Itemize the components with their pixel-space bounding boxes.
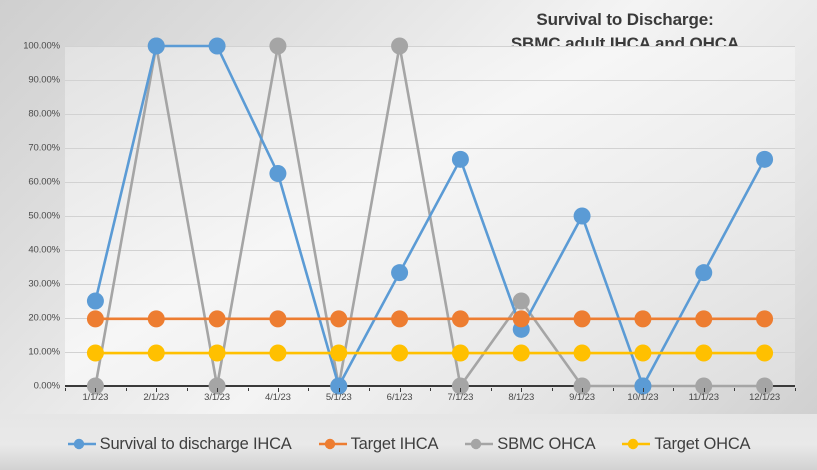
x-axis-tick-label: 9/1/23 <box>569 392 595 403</box>
data-point[interactable] <box>391 38 408 55</box>
x-axis-minor-tick <box>65 388 66 391</box>
data-point[interactable] <box>87 293 104 310</box>
x-axis-minor-tick <box>369 388 370 391</box>
legend-label: Survival to discharge IHCA <box>100 435 292 454</box>
x-axis-tick-label: 12/1/23 <box>749 392 780 403</box>
data-point[interactable] <box>574 310 591 327</box>
y-axis-tick-label: 30.00% <box>28 279 60 290</box>
data-point[interactable] <box>756 310 773 327</box>
series-survival-to-discharge-ihca <box>87 38 773 395</box>
x-axis-tick-label: 4/1/23 <box>265 392 291 403</box>
x-axis-minor-tick <box>491 388 492 391</box>
x-axis-tick-label: 8/1/23 <box>508 392 534 403</box>
series-line <box>95 46 764 386</box>
data-point[interactable] <box>695 264 712 281</box>
legend-marker-icon <box>318 435 348 453</box>
data-point[interactable] <box>452 310 469 327</box>
chart-container: Survival to Discharge: SBMC adult IHCA a… <box>0 0 817 470</box>
x-axis-minor-tick <box>126 388 127 391</box>
x-axis-minor-tick <box>795 388 796 391</box>
y-axis-tick-label: 50.00% <box>28 211 60 222</box>
data-point[interactable] <box>87 345 104 362</box>
data-point[interactable] <box>209 38 226 55</box>
legend-item[interactable]: Target IHCA <box>318 435 439 454</box>
x-axis-minor-tick <box>673 388 674 391</box>
x-axis-minor-tick <box>734 388 735 391</box>
x-axis-tick-label: 5/1/23 <box>326 392 352 403</box>
y-axis-tick-label: 90.00% <box>28 75 60 86</box>
x-axis-tick-label: 6/1/23 <box>387 392 413 403</box>
y-axis-tick-label: 80.00% <box>28 109 60 120</box>
y-axis-tick-label: 70.00% <box>28 143 60 154</box>
legend-marker-icon <box>621 435 651 453</box>
y-axis-tick-label: 40.00% <box>28 245 60 256</box>
data-point[interactable] <box>87 310 104 327</box>
legend-item[interactable]: Survival to discharge IHCA <box>67 435 292 454</box>
x-axis: 1/1/232/1/233/1/234/1/235/1/236/1/237/1/… <box>65 388 795 410</box>
series-layer <box>65 46 795 386</box>
data-point[interactable] <box>209 310 226 327</box>
data-point[interactable] <box>148 38 165 55</box>
data-point[interactable] <box>148 345 165 362</box>
data-point[interactable] <box>756 151 773 168</box>
legend-item[interactable]: Target OHCA <box>621 435 750 454</box>
data-point[interactable] <box>513 293 530 310</box>
data-point[interactable] <box>269 165 286 182</box>
x-axis-tick-label: 3/1/23 <box>204 392 230 403</box>
data-point[interactable] <box>269 345 286 362</box>
data-point[interactable] <box>513 345 530 362</box>
x-axis-minor-tick <box>430 388 431 391</box>
data-point[interactable] <box>574 345 591 362</box>
data-point[interactable] <box>695 310 712 327</box>
y-axis-tick-label: 20.00% <box>28 313 60 324</box>
y-axis: 0.00%10.00%20.00%30.00%40.00%50.00%60.00… <box>0 46 60 386</box>
legend-label: SBMC OHCA <box>497 435 595 454</box>
legend-label: Target OHCA <box>654 435 750 454</box>
data-point[interactable] <box>269 310 286 327</box>
y-axis-tick-label: 0.00% <box>34 381 60 392</box>
y-axis-tick-label: 10.00% <box>28 347 60 358</box>
x-axis-minor-tick <box>308 388 309 391</box>
x-axis-minor-tick <box>613 388 614 391</box>
legend-label: Target IHCA <box>351 435 439 454</box>
x-axis-minor-tick <box>187 388 188 391</box>
data-point[interactable] <box>513 310 530 327</box>
y-axis-tick-label: 100.00% <box>23 41 60 52</box>
y-axis-tick-label: 60.00% <box>28 177 60 188</box>
data-point[interactable] <box>452 151 469 168</box>
data-point[interactable] <box>634 345 651 362</box>
x-axis-tick-label: 7/1/23 <box>447 392 473 403</box>
series-target-ohca <box>87 345 773 362</box>
x-axis-tick-label: 10/1/23 <box>627 392 658 403</box>
plot-area <box>65 46 795 386</box>
data-point[interactable] <box>148 310 165 327</box>
data-point[interactable] <box>269 38 286 55</box>
chart-legend: Survival to discharge IHCATarget IHCASBM… <box>0 414 817 470</box>
data-point[interactable] <box>391 345 408 362</box>
x-axis-minor-tick <box>248 388 249 391</box>
series-target-ihca <box>87 310 773 327</box>
data-point[interactable] <box>634 310 651 327</box>
data-point[interactable] <box>330 310 347 327</box>
x-axis-tick-label: 11/1/23 <box>689 392 719 403</box>
data-point[interactable] <box>574 208 591 225</box>
x-axis-tick-label: 1/1/23 <box>82 392 108 403</box>
x-axis-tick-label: 2/1/23 <box>143 392 169 403</box>
data-point[interactable] <box>209 345 226 362</box>
data-point[interactable] <box>391 310 408 327</box>
data-point[interactable] <box>756 345 773 362</box>
data-point[interactable] <box>330 345 347 362</box>
x-axis-minor-tick <box>552 388 553 391</box>
legend-marker-icon <box>464 435 494 453</box>
data-point[interactable] <box>391 264 408 281</box>
data-point[interactable] <box>452 345 469 362</box>
chart-title-line-1: Survival to Discharge: <box>445 8 805 32</box>
legend-marker-icon <box>67 435 97 453</box>
data-point[interactable] <box>695 345 712 362</box>
legend-item[interactable]: SBMC OHCA <box>464 435 595 454</box>
